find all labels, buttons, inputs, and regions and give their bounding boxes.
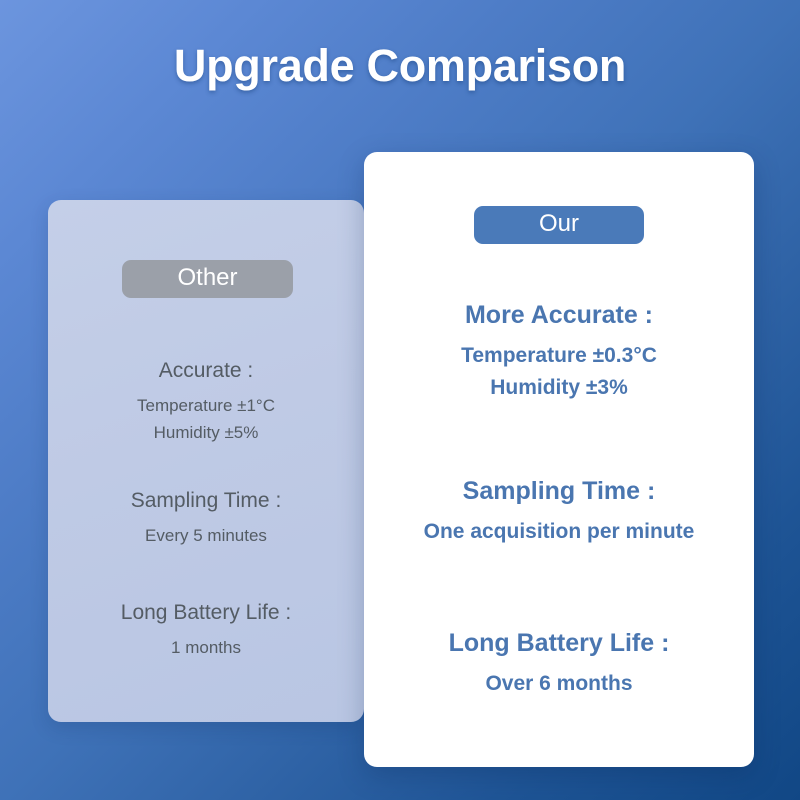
our-accuracy-humidity: Humidity ±3% <box>364 372 754 404</box>
spacer <box>48 626 364 635</box>
other-badge: Other <box>122 260 293 298</box>
comparison-infographic: Upgrade Comparison Other Accurate : Temp… <box>0 0 800 800</box>
our-battery-value: Over 6 months <box>364 668 754 700</box>
our-feature-group-accuracy: More Accurate : Temperature ±0.3°C Humid… <box>364 300 754 403</box>
our-accuracy-heading: More Accurate : <box>364 300 754 331</box>
other-feature-group-accuracy: Accurate : Temperature ±1°C Humidity ±5% <box>48 358 364 446</box>
other-accuracy-heading: Accurate : <box>48 358 364 384</box>
spacer <box>364 659 754 668</box>
other-accuracy-temperature: Temperature ±1°C <box>48 393 364 419</box>
our-feature-group-sampling: Sampling Time : One acquisition per minu… <box>364 476 754 548</box>
other-feature-group-battery: Long Battery Life : 1 months <box>48 600 364 662</box>
our-feature-group-battery: Long Battery Life : Over 6 months <box>364 628 754 700</box>
other-battery-heading: Long Battery Life : <box>48 600 364 626</box>
other-sampling-heading: Sampling Time : <box>48 488 364 514</box>
other-sampling-value: Every 5 minutes <box>48 523 364 549</box>
other-battery-value: 1 months <box>48 635 364 661</box>
other-comparison-card: Other Accurate : Temperature ±1°C Humidi… <box>48 200 364 722</box>
spacer <box>364 507 754 516</box>
our-battery-heading: Long Battery Life : <box>364 628 754 659</box>
our-badge: Our <box>474 206 644 244</box>
page-title: Upgrade Comparison <box>0 40 800 92</box>
our-sampling-heading: Sampling Time : <box>364 476 754 507</box>
spacer <box>48 514 364 523</box>
other-accuracy-humidity: Humidity ±5% <box>48 420 364 446</box>
our-badge-label: Our <box>539 210 579 238</box>
spacer <box>364 331 754 340</box>
other-feature-group-sampling: Sampling Time : Every 5 minutes <box>48 488 364 550</box>
spacer <box>48 384 364 393</box>
our-sampling-value: One acquisition per minute <box>364 516 754 548</box>
our-comparison-card: Our More Accurate : Temperature ±0.3°C H… <box>364 152 754 767</box>
our-accuracy-temperature: Temperature ±0.3°C <box>364 340 754 372</box>
other-badge-label: Other <box>177 264 237 292</box>
